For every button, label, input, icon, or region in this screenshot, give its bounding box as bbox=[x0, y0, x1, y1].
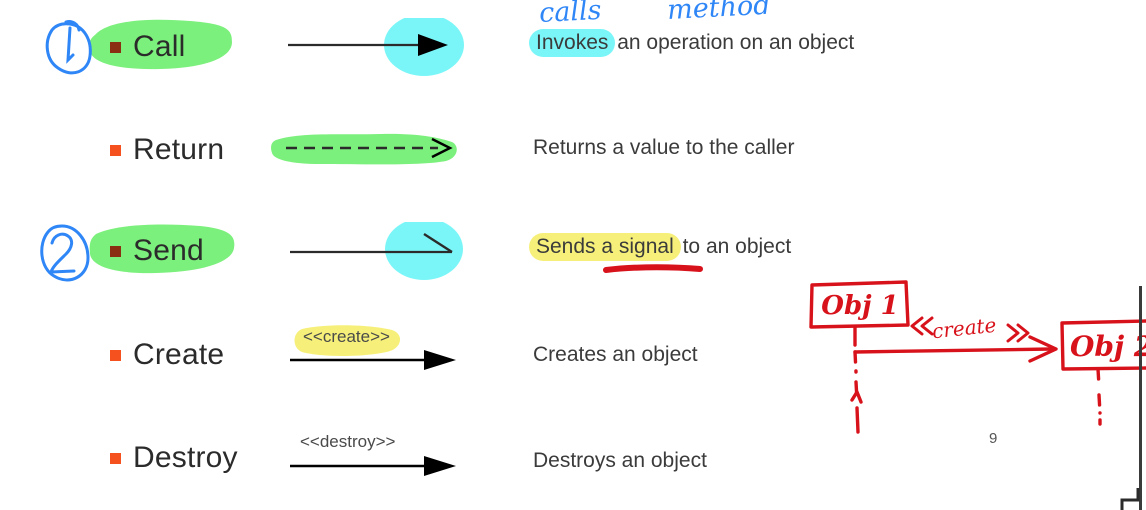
bullet-square-icon bbox=[110, 453, 121, 464]
window-corner-handle-icon[interactable] bbox=[1112, 488, 1146, 510]
bullet-square-icon bbox=[110, 145, 121, 156]
bullet-square-icon bbox=[110, 42, 121, 53]
return-description: Returns a value to the caller bbox=[533, 136, 794, 160]
sketch-object-1-label: Obj 1 bbox=[812, 286, 908, 326]
term-label: Return bbox=[133, 133, 224, 167]
term-label: Create bbox=[133, 338, 224, 372]
return-label-group: Return bbox=[110, 133, 224, 167]
term-label: Destroy bbox=[133, 441, 238, 475]
term-label: Send bbox=[133, 234, 204, 268]
send-description-rest: to an object bbox=[677, 235, 791, 258]
slide-canvas: Call Invokes an operation on an object R… bbox=[0, 0, 1146, 510]
call-description: Invokes an operation on an object bbox=[533, 31, 854, 55]
term-label: Call bbox=[133, 30, 185, 64]
panel-edge-divider bbox=[1139, 286, 1142, 510]
message-row-send: Send Sends a signal to an object bbox=[0, 222, 1146, 292]
message-row-call: Call Invokes an operation on an object bbox=[0, 18, 1146, 88]
message-row-destroy: Destroy <<destroy>> Destroys an object bbox=[0, 428, 1146, 498]
call-description-rest: an operation on an object bbox=[611, 31, 854, 54]
create-label-group: Create bbox=[110, 338, 224, 372]
call-description-highlighted: Invokes bbox=[533, 31, 611, 55]
destroy-label-group: Destroy bbox=[110, 441, 238, 475]
page-number: 9 bbox=[989, 430, 997, 447]
handwriting-calls: calls bbox=[538, 0, 602, 29]
create-description: Creates an object bbox=[533, 343, 698, 367]
send-description: Sends a signal to an object bbox=[533, 235, 791, 259]
message-row-return: Return Returns a value to the caller bbox=[0, 120, 1146, 190]
create-stereotype-label: <<create>> bbox=[303, 327, 390, 347]
bullet-square-icon bbox=[110, 246, 121, 257]
destroy-stereotype-label: <<destroy>> bbox=[300, 432, 395, 452]
send-description-highlighted: Sends a signal bbox=[533, 235, 677, 259]
sketch-object-2-label: Obj 2 bbox=[1070, 324, 1146, 368]
bullet-square-icon bbox=[110, 350, 121, 361]
call-label-group: Call bbox=[110, 30, 185, 64]
destroy-description: Destroys an object bbox=[533, 449, 707, 473]
send-label-group: Send bbox=[110, 234, 204, 268]
